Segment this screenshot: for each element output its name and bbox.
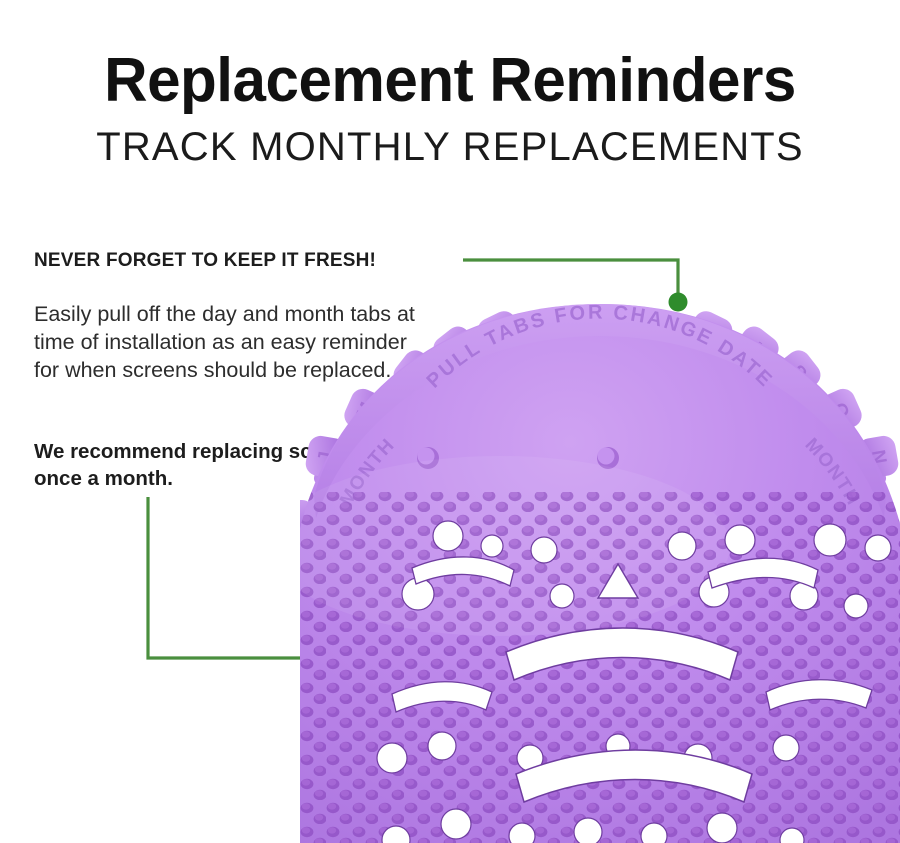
page-subtitle: TRACK MONTHLY REPLACEMENTS	[0, 124, 900, 170]
screen-body: PULL TABS FOR CHANGE DATE MONTH MONTH	[300, 302, 900, 843]
product-image-urinal-screen: J M A M	[300, 296, 900, 843]
product-svg: J M A M	[300, 296, 900, 843]
callout-heading: NEVER FORGET TO KEEP IT FRESH!	[34, 249, 376, 273]
page-title: Replacement Reminders	[14, 48, 887, 114]
infographic-page: Replacement Reminders TRACK MONTHLY REPL…	[0, 0, 900, 843]
